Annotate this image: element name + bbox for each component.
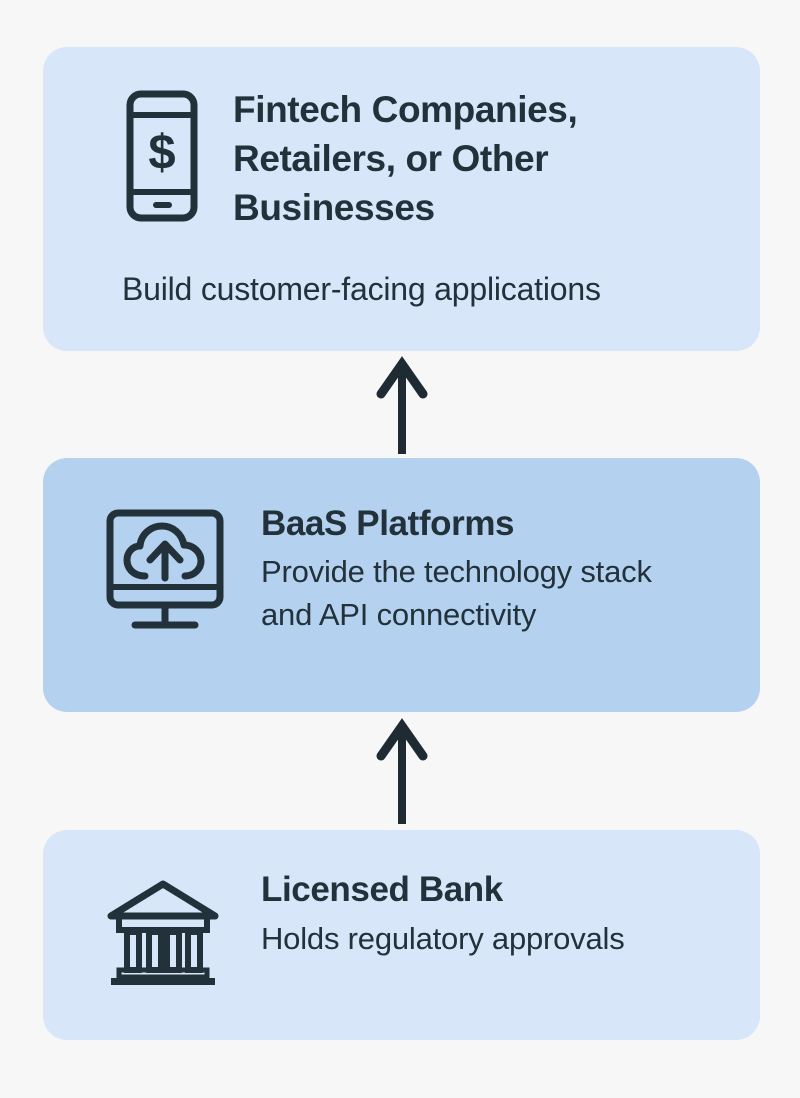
card-subtitle: Provide the technology stack and API con… <box>261 550 706 636</box>
card-content-row: $ Fintech Companies, Retailers, or Other… <box>43 47 760 232</box>
card-subtitle: Build customer-facing applications <box>122 269 601 309</box>
layer-card-baas: BaaS Platforms Provide the technology st… <box>43 458 760 712</box>
svg-text:$: $ <box>148 126 175 180</box>
bank-building-icon <box>105 878 221 995</box>
mobile-phone-dollar-icon: $ <box>125 89 199 228</box>
arrow-up-icon <box>374 718 430 826</box>
card-subtitle: Holds regulatory approvals <box>261 918 760 960</box>
layer-card-fintech: $ Fintech Companies, Retailers, or Other… <box>43 47 760 351</box>
card-title: BaaS Platforms <box>261 502 760 546</box>
arrow-up-icon <box>374 356 430 456</box>
card-text-block: Fintech Companies, Retailers, or Other B… <box>233 85 760 232</box>
card-title: Licensed Bank <box>261 868 760 912</box>
card-content-row: BaaS Platforms Provide the technology st… <box>43 458 760 639</box>
card-title: Fintech Companies, Retailers, or Other B… <box>233 85 653 232</box>
monitor-cloud-upload-icon <box>105 508 225 639</box>
layer-card-bank: Licensed Bank Holds regulatory approvals <box>43 830 760 1040</box>
card-content-row: Licensed Bank Holds regulatory approvals <box>43 830 760 995</box>
card-text-block: BaaS Platforms Provide the technology st… <box>261 502 760 636</box>
baas-layer-diagram: $ Fintech Companies, Retailers, or Other… <box>0 0 800 1098</box>
card-text-block: Licensed Bank Holds regulatory approvals <box>261 868 760 960</box>
